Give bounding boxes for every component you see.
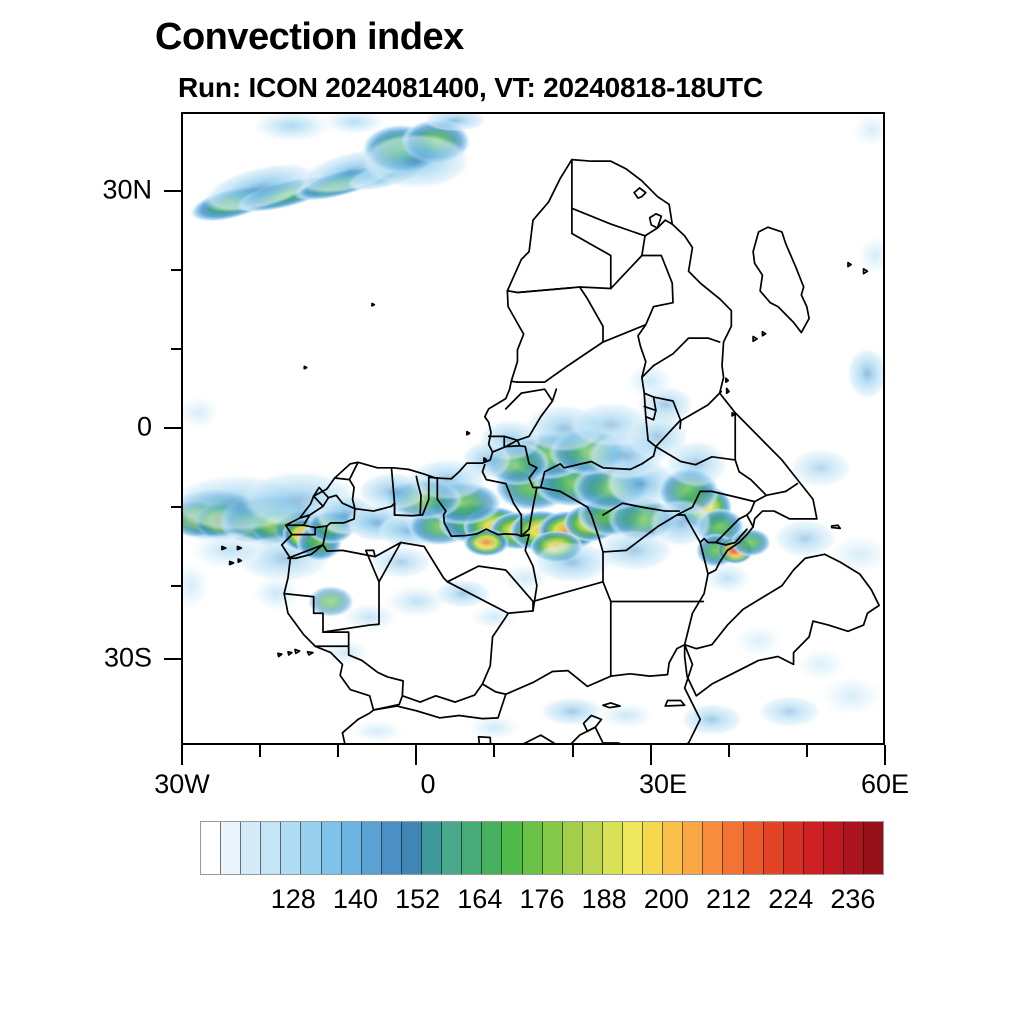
colorbar-cell: [764, 822, 784, 874]
colorbar-tick-label: 152: [395, 884, 440, 915]
colorbar-cell: [382, 822, 402, 874]
x-label-60e: 60E: [861, 769, 909, 800]
x-label-0: 0: [420, 769, 435, 800]
run-valid-time-subtitle: Run: ICON 2024081400, VT: 20240818-18UTC: [178, 72, 763, 104]
colorbar-cell: [643, 822, 663, 874]
x-label-30e: 30E: [639, 769, 687, 800]
colorbar-cell: [683, 822, 703, 874]
colorbar-cell: [241, 822, 261, 874]
colorbar-tick-label: 188: [582, 884, 627, 915]
colorbar-cell: [663, 822, 683, 874]
y-tick-20n: [171, 269, 181, 271]
x-tick-20w: [259, 745, 261, 757]
africa-map-svg: [183, 114, 883, 743]
y-tick-30n: [164, 190, 181, 192]
x-tick-0: [415, 745, 417, 765]
colorbar-tick-label: 212: [706, 884, 751, 915]
colorbar-cell: [301, 822, 321, 874]
y-tick-30s: [164, 658, 181, 660]
colorbar-cell: [281, 822, 301, 874]
colorbar-tick-label: 128: [271, 884, 316, 915]
y-tick-0: [164, 427, 181, 429]
colorbar-tick-label: 200: [644, 884, 689, 915]
colorbar-cell: [543, 822, 563, 874]
x-tick-60e: [884, 745, 886, 765]
colorbar-cell: [502, 822, 522, 874]
y-label-0: 0: [20, 412, 152, 443]
y-label-30s: 30S: [20, 643, 152, 674]
x-tick-30e: [650, 745, 652, 765]
colorbar-cell: [864, 822, 883, 874]
colorbar-tick-label: 224: [768, 884, 813, 915]
colorbar-tick-label: 176: [519, 884, 564, 915]
colorbar-cell: [261, 822, 281, 874]
y-tick-10s: [171, 506, 181, 508]
colorbar-cell: [482, 822, 502, 874]
colorbar-cell: [744, 822, 764, 874]
colorbar-cell: [844, 822, 864, 874]
colorbar-cell: [201, 822, 221, 874]
colorbar-cell: [422, 822, 442, 874]
page-title: Convection index: [155, 16, 464, 59]
colorbar-cell: [442, 822, 462, 874]
x-label-30w: 30W: [154, 769, 210, 800]
colorbar-cell: [523, 822, 543, 874]
colorbar-cell: [563, 822, 583, 874]
convection-field: [183, 114, 883, 742]
colorbar-cell: [322, 822, 342, 874]
colorbar-tick-label: 140: [333, 884, 378, 915]
colorbar-cell: [723, 822, 743, 874]
x-tick-10e: [493, 745, 495, 757]
colorbar-cell: [362, 822, 382, 874]
colorbar-cell: [402, 822, 422, 874]
colorbar-cell: [623, 822, 643, 874]
colorbar-cell: [221, 822, 241, 874]
map-plot-area[interactable]: [181, 112, 885, 745]
x-tick-10w: [337, 745, 339, 757]
colorbar-cell: [462, 822, 482, 874]
x-tick-40e: [728, 745, 730, 757]
colorbar-tick-label: 236: [830, 884, 875, 915]
colorbar-cell: [342, 822, 362, 874]
y-tick-10n: [171, 348, 181, 350]
colorbar-cell: [583, 822, 603, 874]
colorbar-cell: [824, 822, 844, 874]
convection-index-figure: Convection index Run: ICON 2024081400, V…: [0, 0, 1024, 1024]
y-tick-20s: [171, 585, 181, 587]
colorbar-cell: [703, 822, 723, 874]
x-tick-30w: [181, 745, 183, 765]
x-tick-20e: [572, 745, 574, 757]
colorbar-cell: [603, 822, 623, 874]
colorbar-cell: [804, 822, 824, 874]
colorbar-cell: [784, 822, 804, 874]
y-label-30n: 30N: [20, 175, 152, 206]
x-tick-50e: [806, 745, 808, 757]
colorbar[interactable]: [200, 821, 884, 875]
colorbar-tick-label: 164: [457, 884, 502, 915]
